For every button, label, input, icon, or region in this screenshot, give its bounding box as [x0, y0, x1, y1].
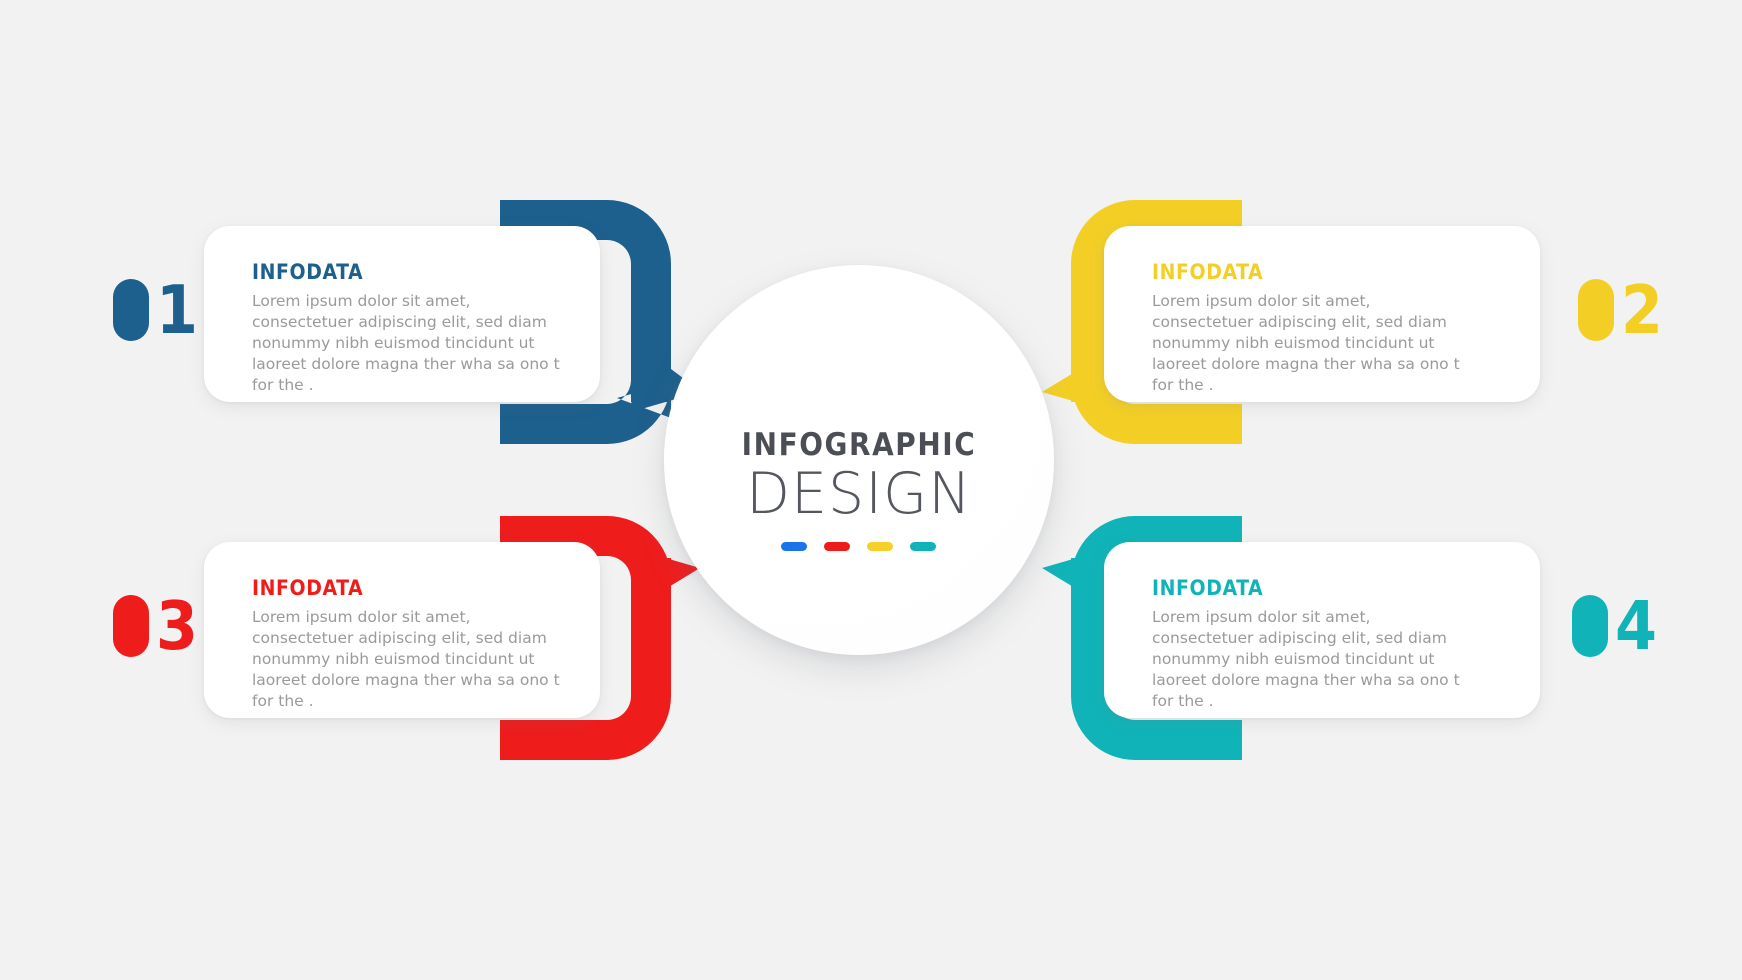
- center-text-block: INFOGRAPHIC DESIGN: [742, 427, 977, 552]
- step-number-badge-04: 4: [1572, 595, 1656, 657]
- center-subtitle: DESIGN: [742, 465, 977, 525]
- badge-digit-03: 3: [156, 595, 197, 657]
- badge-zero-01: [113, 279, 149, 341]
- badge-zero-02: [1578, 279, 1614, 341]
- center-circle: INFOGRAPHIC DESIGN: [664, 265, 1054, 655]
- card-body-step-02: Lorem ipsum dolor sit amet, consectetuer…: [1152, 291, 1462, 396]
- card-body-step-03: Lorem ipsum dolor sit amet, consectetuer…: [252, 607, 560, 712]
- info-card-step-02[interactable]: INFODATA Lorem ipsum dolor sit amet, con…: [1104, 226, 1540, 402]
- dash-blue-icon: [781, 542, 807, 551]
- info-card-step-03[interactable]: INFODATA Lorem ipsum dolor sit amet, con…: [204, 542, 600, 718]
- badge-digit-02: 2: [1621, 279, 1662, 341]
- dash-cyan-icon: [910, 542, 936, 551]
- accent-dash-row: [742, 542, 977, 551]
- info-card-step-04[interactable]: INFODATA Lorem ipsum dolor sit amet, con…: [1104, 542, 1540, 718]
- card-body-step-01: Lorem ipsum dolor sit amet, consectetuer…: [252, 291, 560, 396]
- badge-digit-01: 1: [156, 279, 197, 341]
- infographic-canvas: INFODATA Lorem ipsum dolor sit amet, con…: [0, 0, 1742, 980]
- step-number-badge-02: 2: [1578, 279, 1662, 341]
- badge-zero-03: [113, 595, 149, 657]
- card-title-step-01: INFODATA: [252, 260, 560, 284]
- card-body-step-04: Lorem ipsum dolor sit amet, consectetuer…: [1152, 607, 1462, 712]
- badge-digit-04: 4: [1615, 595, 1656, 657]
- card-title-step-03: INFODATA: [252, 576, 560, 600]
- info-card-step-01[interactable]: INFODATA Lorem ipsum dolor sit amet, con…: [204, 226, 600, 402]
- dash-yellow-icon: [867, 542, 893, 551]
- step-number-badge-01: 1: [113, 279, 197, 341]
- dash-red-icon: [824, 542, 850, 551]
- card-title-step-02: INFODATA: [1152, 260, 1500, 284]
- step-number-badge-03: 3: [113, 595, 197, 657]
- center-title: INFOGRAPHIC: [742, 427, 977, 463]
- badge-zero-04: [1572, 595, 1608, 657]
- card-title-step-04: INFODATA: [1152, 576, 1500, 600]
